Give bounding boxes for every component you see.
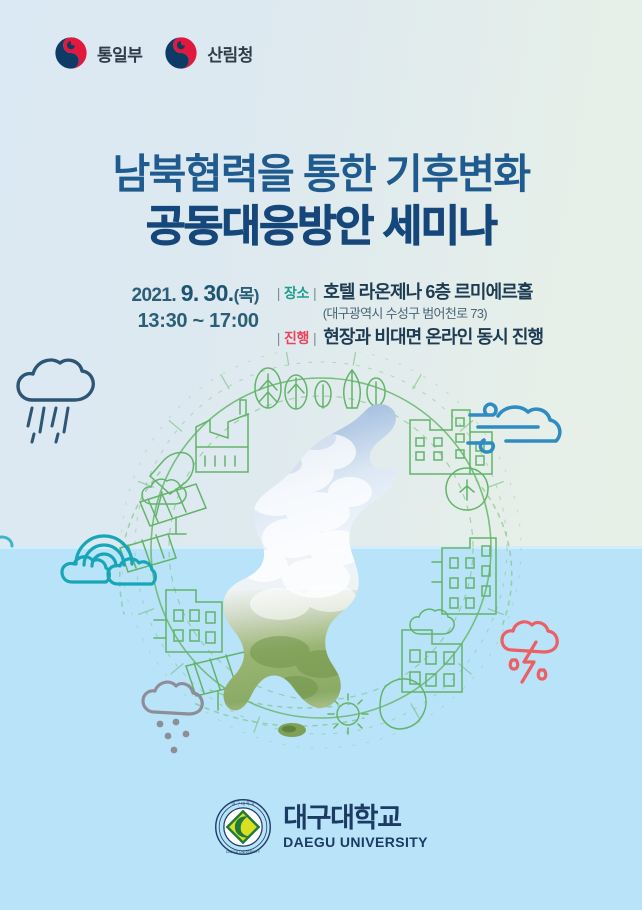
svg-text:대 구 대 학 교: 대 구 대 학 교 [232,800,255,806]
government-logo-bar: 통일부 산림청 [54,36,253,70]
mode-label: 진행 [284,328,309,348]
wind-cloud-icon [468,404,560,452]
university-name-en: DAEGU UNIVERSITY [283,835,428,849]
taeguk-emblem-icon [54,36,88,70]
rainbow-cloud-icon [62,536,155,584]
svg-text:DAEGU UNIVERSITY: DAEGU UNIVERSITY [226,850,261,854]
university-footer: 대 구 대 학 교 DAEGU UNIVERSITY 대구대학교 DAEGU U… [0,798,642,856]
illustration-canvas [0,352,642,772]
korean-peninsula-map [200,392,440,737]
sea-cloud-icon [0,537,12,546]
climate-illustration [0,352,642,772]
org-logo-unification: 통일부 [54,36,142,70]
event-date: 2021. 9. 30.(목) [99,281,259,308]
tag-bar-right: | [313,330,316,346]
tag-bar-left: | [277,285,280,301]
thunderstorm-icon [502,622,557,682]
taeguk-emblem-icon [164,36,198,70]
event-info: 2021. 9. 30.(목) 13:30 ~ 17:00 | 장소 | 호텔 … [0,281,642,349]
tag-bar-right: | [313,285,316,301]
place-label: 장소 [284,283,309,303]
place-row: | 장소 | 호텔 라온제나 6층 르미에르홀 [277,281,543,304]
title-line-1: 남북협력을 통한 기후변화 [0,148,642,200]
place-value: 호텔 라온제나 6층 르미에르홀 [323,281,532,304]
poster-title: 남북협력을 통한 기후변화 공동대응방안 세미나 [0,148,642,254]
title-line-2: 공동대응방안 세미나 [0,200,642,254]
poster-root: 통일부 산림청 남북협력을 통한 기후변화 공동대응방안 세미나 2021. 9… [0,0,642,910]
event-details: | 장소 | 호텔 라온제나 6층 르미에르홀 (대구광역시 수성구 범어천로 … [275,281,543,349]
tag-bar-left: | [277,330,280,346]
university-name-block: 대구대학교 DAEGU UNIVERSITY [283,805,428,849]
rain-cloud-icon [18,360,93,442]
org-logo-forest: 산림청 [164,36,252,70]
event-datetime: 2021. 9. 30.(목) 13:30 ~ 17:00 [99,281,275,335]
date-year: 2021. [132,285,177,306]
mode-row: | 진행 | 현장과 비대면 온라인 동시 진행 [277,326,543,349]
snow-cloud-icon [143,682,202,753]
mode-tag: | 진행 | [277,328,316,348]
ring-tower-icon [402,630,462,692]
event-time: 13:30 ~ 17:00 [99,308,259,335]
university-name-kr: 대구대학교 [283,805,428,832]
mode-value: 현장과 비대면 온라인 동시 진행 [323,326,543,349]
place-tag: | 장소 | [277,283,316,303]
date-weekday: (목) [234,286,259,305]
daegu-university-seal-icon: 대 구 대 학 교 DAEGU UNIVERSITY [214,798,272,856]
ring-building-icon [432,538,496,614]
org-name-label: 통일부 [97,41,142,66]
date-month: 9. [181,280,199,306]
place-address: (대구광역시 수성구 범어천로 73) [323,305,543,322]
org-name-label: 산림청 [207,41,252,66]
ring-factory-icon [196,400,248,472]
date-day: 30. [203,280,233,306]
